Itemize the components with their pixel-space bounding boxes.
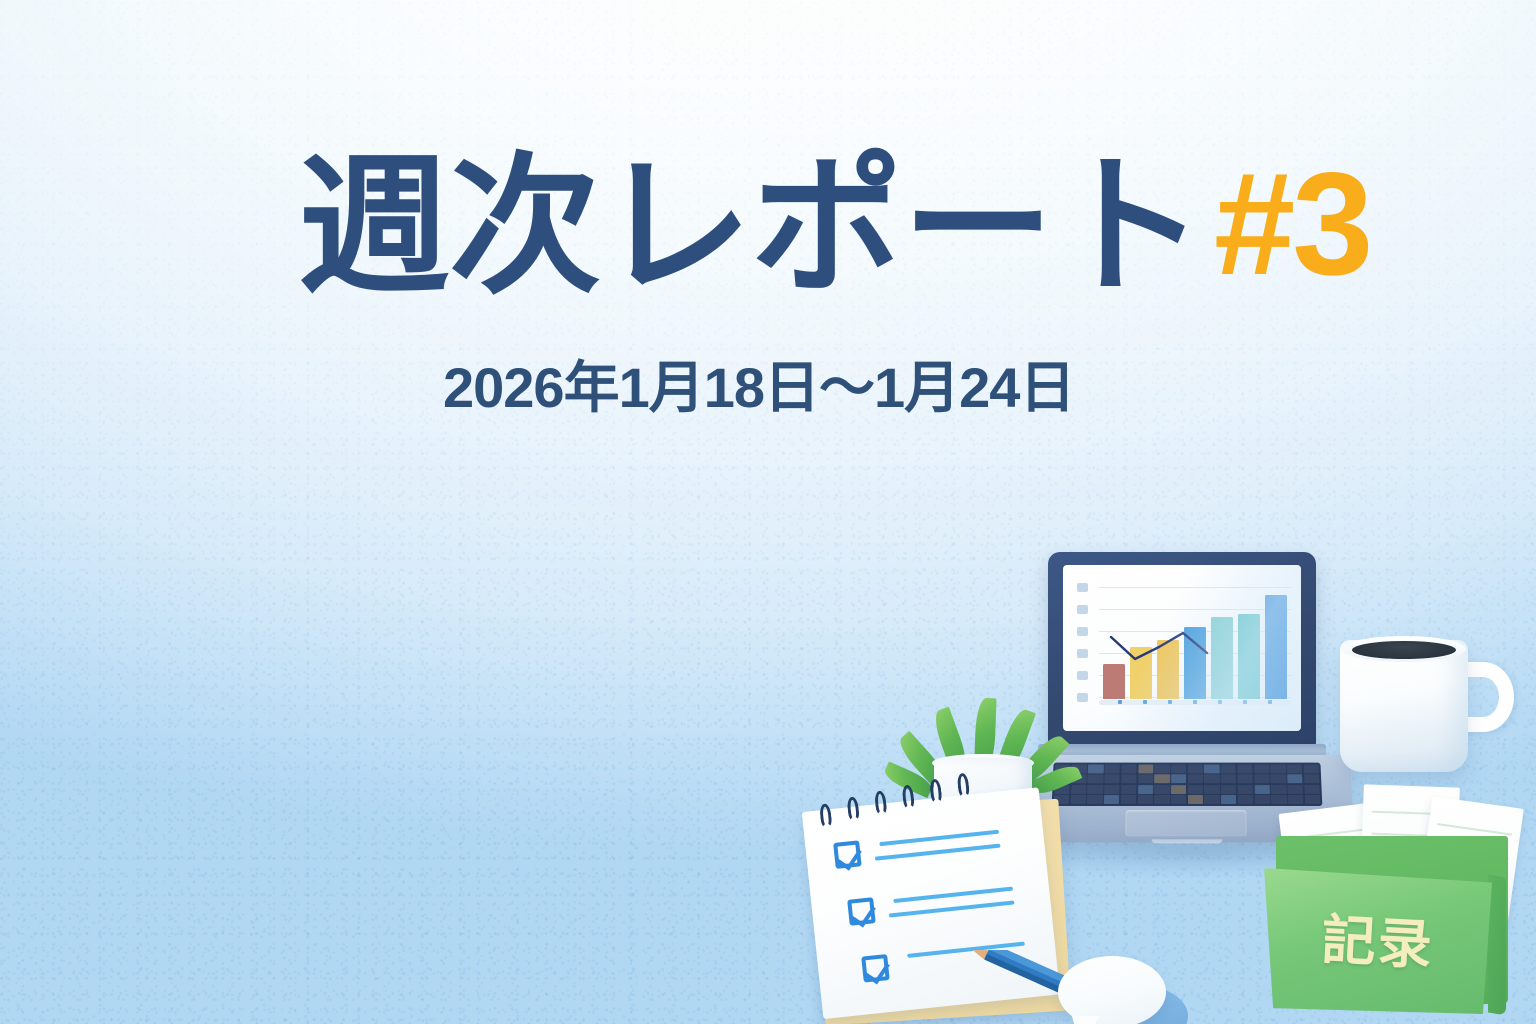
chart-bar-marker — [1218, 700, 1222, 704]
bar-chart — [1077, 579, 1291, 715]
chart-bar-marker — [1143, 700, 1147, 704]
keyboard-key — [1238, 785, 1253, 794]
keyboard-key — [1204, 785, 1219, 794]
keyboard-key — [1154, 795, 1169, 804]
notepad-spiral-ring — [846, 796, 859, 821]
keyboard-key — [1138, 775, 1153, 784]
keyboard-key — [1171, 765, 1186, 774]
keyboard-key — [1221, 795, 1236, 804]
trend-line — [1077, 579, 1291, 715]
checkbox-checked[interactable] — [847, 897, 876, 926]
speech-bubble-white-tail — [1072, 1016, 1100, 1024]
date-range-subtitle: 2026年1月18日～1月24日 — [443, 343, 1074, 424]
keyboard-key — [1070, 795, 1086, 804]
coffee-mug — [1340, 636, 1518, 778]
keyboard-key — [1104, 795, 1119, 804]
keyboard-key — [1188, 765, 1203, 774]
desk-workspace-illustration: 記录 — [780, 528, 1536, 1024]
laptop-lid — [1048, 552, 1316, 748]
chart-bar-marker — [1243, 700, 1247, 704]
speech-bubbles — [1058, 956, 1198, 1024]
chart-bar-marker — [1118, 700, 1122, 704]
checkbox-checked[interactable] — [861, 954, 890, 983]
keyboard-key — [1104, 785, 1119, 794]
page-title: 週次レポート #3 — [298, 150, 1370, 305]
chart-bar-marker — [1268, 700, 1272, 704]
keyboard-key — [1254, 765, 1269, 774]
note-line — [893, 887, 1013, 903]
note-line — [879, 830, 999, 846]
title-issue-number: #3 — [1214, 150, 1370, 299]
keyboard-key — [1121, 795, 1136, 804]
keyboard-key — [1154, 785, 1169, 794]
keyboard-key — [1204, 795, 1219, 804]
checkbox-checked[interactable] — [833, 840, 862, 869]
laptop-screen — [1063, 565, 1301, 731]
keyboard-key — [1138, 765, 1153, 774]
keyboard-key — [1204, 765, 1219, 774]
keyboard-key — [1221, 785, 1236, 794]
keyboard-key — [1105, 775, 1120, 784]
keyboard-key — [1171, 785, 1186, 794]
keyboard-key — [1237, 765, 1252, 774]
keyboard-key — [1171, 775, 1186, 784]
document-folder: 記录 — [1260, 780, 1528, 1024]
keyboard-key — [1270, 765, 1285, 774]
keyboard-key — [1071, 785, 1086, 794]
keyboard-key — [1155, 765, 1170, 774]
keyboard-key — [1238, 775, 1253, 784]
keyboard-key — [1121, 765, 1136, 774]
keyboard-key — [1121, 785, 1136, 794]
chart-bar-marker — [1193, 700, 1197, 704]
keyboard-key — [1154, 775, 1169, 784]
coffee-liquid — [1352, 641, 1456, 659]
folder-label-text: 記录 — [1262, 892, 1494, 983]
keyboard-key — [1221, 765, 1236, 774]
chart-bar-marker — [1168, 700, 1172, 704]
keyboard-key — [1138, 785, 1153, 794]
keyboard-key — [1088, 775, 1103, 784]
keyboard-key — [1188, 775, 1203, 784]
keyboard-key — [1171, 795, 1186, 804]
title-main-text: 週次レポート — [298, 150, 1204, 305]
keyboard-key — [1287, 765, 1302, 774]
keyboard-key — [1221, 775, 1236, 784]
keyboard-key — [1087, 795, 1102, 804]
speech-bubble-white — [1058, 956, 1166, 1024]
folder-front-panel: 記录 — [1264, 868, 1492, 1014]
keyboard-key — [1088, 765, 1103, 774]
note-line — [889, 900, 1015, 917]
keyboard-key — [1204, 775, 1219, 784]
keyboard-key — [1088, 785, 1103, 794]
keyboard-key — [1188, 795, 1203, 804]
keyboard-key — [1137, 795, 1152, 804]
laptop-trackpad — [1125, 810, 1247, 836]
keyboard-key — [1303, 765, 1318, 774]
keyboard-key — [1238, 795, 1253, 804]
keyboard-key — [1121, 775, 1136, 784]
note-line — [875, 844, 1001, 861]
slide-canvas: 週次レポート #3 2026年1月18日～1月24日 — [0, 0, 1536, 1024]
keyboard-key — [1105, 765, 1120, 774]
keyboard-key — [1188, 785, 1203, 794]
notepad-spiral-ring — [874, 790, 887, 815]
laptop-base-lip — [1151, 839, 1222, 843]
